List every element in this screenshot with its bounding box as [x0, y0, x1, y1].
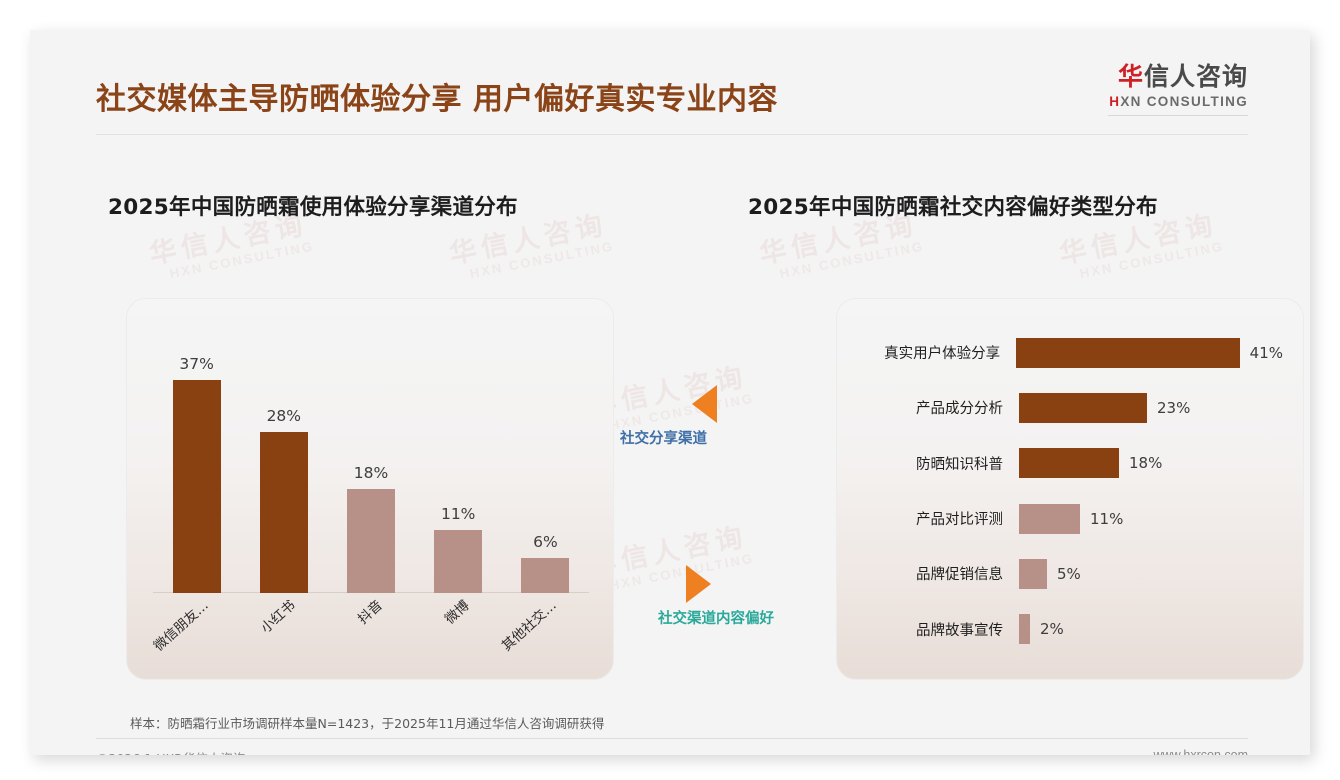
column-category-label: 微博: [439, 594, 472, 627]
sample-note: 样本：防晒霜行业市场调研样本量N=1423，于2025年11月通过华信人咨询调研…: [130, 713, 604, 732]
bar-category-label: 产品对比评测: [859, 508, 1019, 529]
marker-social-share-channel: 社交分享渠道: [620, 385, 717, 448]
bar-fill: [1019, 614, 1030, 644]
bar-row: 品牌促销信息5%: [859, 555, 1283, 593]
column-bar-group: 6%其他社交…: [521, 533, 569, 593]
logo-english-name: HXN CONSULTING: [1108, 94, 1248, 109]
logo-cn-rest: 信人咨询: [1144, 62, 1248, 91]
column-bar-group: 18%抖音: [347, 464, 395, 593]
bar-category-label: 真实用户体验分享: [859, 342, 1016, 363]
column-category-label: 小红书: [255, 594, 298, 636]
bar-category-label: 防晒知识科普: [859, 453, 1019, 474]
logo-en-rest: XN CONSULTING: [1120, 94, 1248, 109]
company-logo: 华信人咨询 HXN CONSULTING: [1108, 62, 1248, 116]
watermark-en: HXN CONSULTING: [168, 239, 315, 282]
bar-category-label: 产品成分分析: [859, 397, 1019, 418]
page-title: 社交媒体主导防晒体验分享 用户偏好真实专业内容: [96, 74, 778, 118]
bar-fill: [1019, 448, 1119, 478]
watermark-en: HXN CONSULTING: [1078, 239, 1225, 282]
column-category-label: 微信朋友…: [148, 594, 212, 654]
bar-value-label: 23%: [1147, 399, 1190, 417]
bar-fill: [1019, 504, 1080, 534]
triangle-left-icon: [692, 385, 717, 423]
watermark-en: HXN CONSULTING: [468, 239, 615, 282]
marker-content-preference: 社交渠道内容偏好: [620, 565, 774, 628]
watermark-en: HXN CONSULTING: [778, 239, 925, 282]
right-chart-panel: 真实用户体验分享41%产品成分分析23%防晒知识科普18%产品对比评测11%品牌…: [836, 298, 1304, 680]
bar-value-label: 2%: [1030, 620, 1064, 638]
marker-preference-label: 社交渠道内容偏好: [658, 607, 774, 628]
header-divider: [96, 134, 1248, 135]
logo-chinese-name: 华信人咨询: [1108, 62, 1248, 92]
column-value-label: 18%: [354, 464, 388, 482]
column-bar-group: 37%微信朋友…: [173, 355, 221, 593]
logo-en-highlight: H: [1109, 94, 1120, 109]
right-chart-heading: 2025年中国防晒霜社交内容偏好类型分布: [748, 190, 1158, 221]
bar-chart: 真实用户体验分享41%产品成分分析23%防晒知识科普18%产品对比评测11%品牌…: [837, 299, 1303, 679]
logo-cn-highlight: 华: [1118, 62, 1144, 91]
left-chart-panel: 37%微信朋友…28%小红书18%抖音11%微博6%其他社交…: [126, 298, 614, 680]
bar-row: 真实用户体验分享41%: [859, 334, 1283, 372]
column-chart: 37%微信朋友…28%小红书18%抖音11%微博6%其他社交…: [127, 299, 613, 679]
bar-fill: [1019, 559, 1047, 589]
column-value-label: 11%: [441, 505, 475, 523]
bar-fill: [1016, 338, 1240, 368]
website-url: www.hxrcon.com: [1154, 748, 1248, 755]
column-value-label: 6%: [533, 533, 558, 551]
footer-divider: [96, 738, 1248, 739]
column-bar: [347, 489, 395, 593]
column-bar: [260, 432, 308, 593]
column-bar: [434, 530, 482, 593]
bar-category-label: 品牌故事宣传: [859, 619, 1019, 640]
bar-value-label: 18%: [1119, 454, 1162, 472]
triangle-right-icon: [686, 565, 711, 603]
bar-row: 产品对比评测11%: [859, 500, 1283, 538]
column-bar: [173, 380, 221, 593]
column-value-label: 28%: [267, 407, 301, 425]
slide-header: 社交媒体主导防晒体验分享 用户偏好真实专业内容 华信人咨询 HXN CONSUL…: [30, 30, 1310, 130]
bar-row: 产品成分分析23%: [859, 389, 1283, 427]
bar-row: 品牌故事宣传2%: [859, 610, 1283, 648]
left-chart-heading: 2025年中国防晒霜使用体验分享渠道分布: [108, 190, 518, 221]
column-bar-group: 11%微博: [434, 505, 482, 593]
bar-fill: [1019, 393, 1147, 423]
bar-value-label: 5%: [1047, 565, 1081, 583]
column-category-label: 抖音: [352, 594, 385, 627]
logo-divider: [1108, 115, 1248, 116]
copyright-text: ©2026.1 HXR华信人咨询: [96, 748, 245, 755]
column-category-label: 其他社交…: [497, 594, 561, 654]
column-value-label: 37%: [179, 355, 213, 373]
slide-canvas: 华信人咨询 HXN CONSULTING 华信人咨询 HXN CONSULTIN…: [30, 30, 1310, 755]
bar-value-label: 41%: [1240, 344, 1283, 362]
column-bar: [521, 558, 569, 593]
column-bar-group: 28%小红书: [260, 407, 308, 593]
bar-category-label: 品牌促销信息: [859, 563, 1019, 584]
bar-value-label: 11%: [1080, 510, 1123, 528]
marker-share-label: 社交分享渠道: [620, 427, 717, 448]
bar-row: 防晒知识科普18%: [859, 444, 1283, 482]
